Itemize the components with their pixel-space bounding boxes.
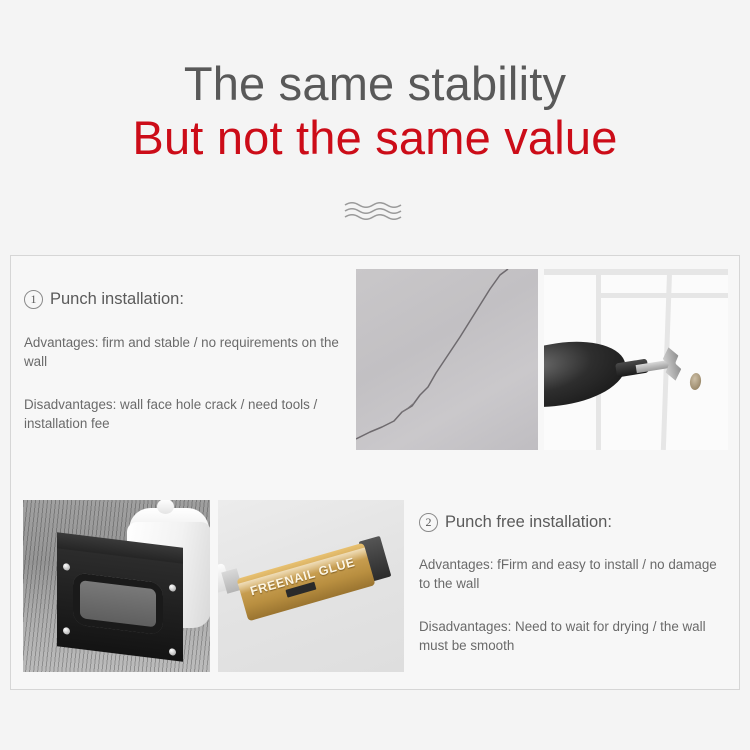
wall-crack-icon <box>356 269 538 450</box>
bracket-screw <box>63 627 70 635</box>
page-subtitle: But not the same value <box>0 110 750 166</box>
header: The same stability But not the same valu… <box>0 56 750 166</box>
glue-tube-photo: FREENAIL GLUE <box>218 500 404 672</box>
wave-divider-icon <box>343 200 407 222</box>
drilled-hole <box>689 372 702 390</box>
section-2-title: 2 Punch free installation: <box>419 511 731 533</box>
section-2-advantages: Advantages: fFirm and easy to install / … <box>419 555 731 593</box>
bracket-screw <box>169 648 176 656</box>
section-2-number: 2 <box>419 513 438 532</box>
infographic-page: The same stability But not the same valu… <box>0 0 750 750</box>
section-1-disadvantages: Disadvantages: wall face hole crack / ne… <box>24 395 359 433</box>
section-1-title-label: Punch installation: <box>50 288 184 310</box>
section-2-text: 2 Punch free installation: Advantages: f… <box>419 511 731 655</box>
section-1-title: 1 Punch installation: <box>24 288 359 310</box>
tile-grout-line <box>596 293 728 298</box>
tile-grout-line <box>544 269 728 275</box>
cracked-wall-photo <box>356 269 538 450</box>
bracket-holder-photo <box>23 500 210 672</box>
section-1-text: 1 Punch installation: Advantages: firm a… <box>24 288 359 433</box>
page-title: The same stability <box>0 56 750 112</box>
bracket-screw <box>169 584 176 592</box>
bracket-cutout <box>73 572 163 635</box>
installation-comparison-card: 1 Punch installation: Advantages: firm a… <box>10 255 740 690</box>
glue-tube-body: FREENAIL GLUE <box>236 543 375 622</box>
bracket-screw <box>63 563 70 571</box>
section-1-number: 1 <box>24 290 43 309</box>
electric-drill-photo <box>544 269 728 450</box>
section-1-advantages: Advantages: firm and stable / no require… <box>24 333 359 371</box>
section-2-title-label: Punch free installation: <box>445 511 612 533</box>
section-2-disadvantages: Disadvantages: Need to wait for drying /… <box>419 617 731 655</box>
wave-divider <box>0 200 750 227</box>
bracket-front-panel <box>57 548 183 661</box>
